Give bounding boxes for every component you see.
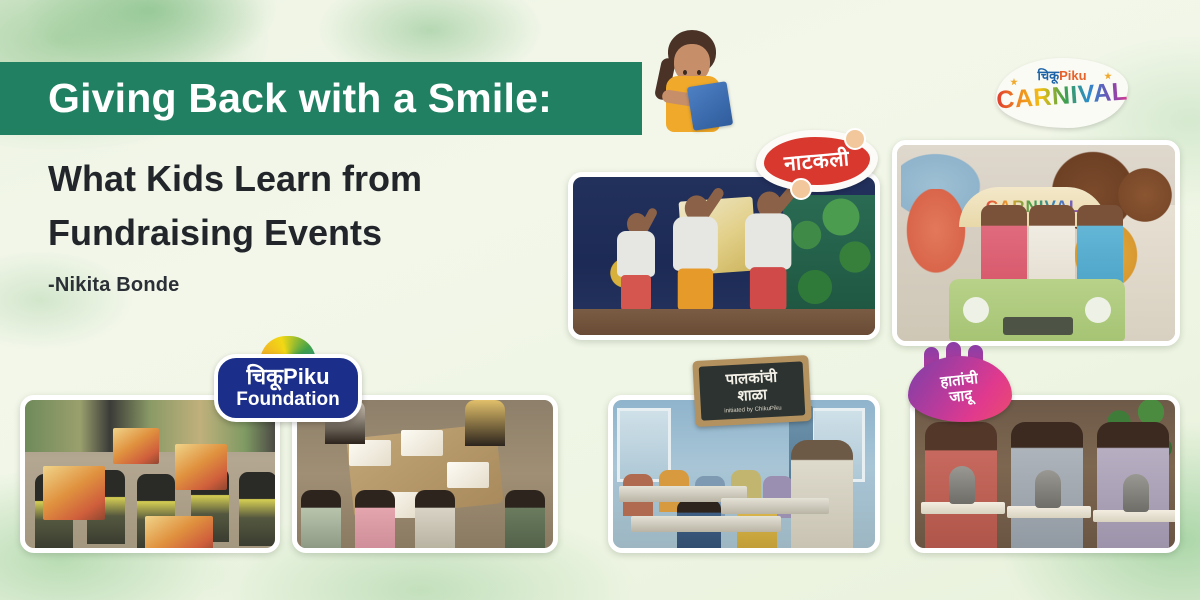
- shirt-shape: [673, 217, 718, 271]
- eye-right: [697, 70, 701, 75]
- shorts-shape: [621, 275, 651, 311]
- badge-foundation-line1: चिकूPiku: [246, 365, 329, 389]
- photo-carnival: CARNIVAL Three children posing in a gree…: [892, 140, 1180, 346]
- carnival-scene: CARNIVAL: [897, 145, 1175, 341]
- badge-carnival: चिकूPiku CARNIVAL: [996, 58, 1128, 128]
- shirt-shape: [617, 231, 655, 277]
- blackboard-frame: पालकांची शाळा initiated by ChikuPiku: [692, 355, 811, 427]
- photo-natakli: Three performers dancing on a jungle-the…: [568, 172, 880, 340]
- dragon-cutout: [901, 189, 971, 281]
- jungle-set-piece: [783, 195, 875, 311]
- desk-3: [721, 498, 829, 514]
- badge-fill: चिकूPiku Foundation: [214, 354, 362, 422]
- clay-idol-2: [1035, 470, 1061, 508]
- child-5: [239, 472, 277, 546]
- facilitator: [791, 440, 853, 548]
- storybook-3: [145, 516, 213, 553]
- badge-shala-line1: पालकांची: [725, 368, 777, 388]
- stage-backdrop: [573, 177, 875, 335]
- author-byline: -Nikita Bonde: [48, 274, 568, 297]
- badge-shala-credit: initiated by ChikuPiku: [724, 405, 782, 414]
- shirt-shape: [745, 213, 791, 269]
- stage-floor: [573, 309, 875, 335]
- jeep-prop: [949, 279, 1125, 341]
- picture-book-3: [447, 462, 489, 488]
- cartoon-face-icon-2: [790, 178, 812, 200]
- child-1: [981, 205, 1027, 283]
- shorts-shape: [678, 269, 713, 311]
- child-4: [505, 490, 545, 548]
- girl-reading-illustration: [650, 30, 738, 140]
- child-6: [465, 400, 505, 446]
- child-3: [1077, 205, 1123, 283]
- eye-left: [683, 70, 687, 75]
- reading-scene: [297, 400, 553, 548]
- storybook-4: [113, 428, 159, 464]
- desk-2: [631, 516, 781, 532]
- books-scene: [25, 400, 275, 548]
- child-2: [1029, 205, 1075, 283]
- child-1: [301, 490, 341, 548]
- clay-workshop-scene: [915, 400, 1175, 548]
- child-2: [355, 490, 395, 548]
- picture-book-2: [401, 430, 443, 456]
- headline-block: What Kids Learn from Fundraising Events …: [48, 152, 568, 297]
- clay-idol-3: [1123, 474, 1149, 512]
- badge-natakli: नाटकली: [756, 130, 878, 192]
- storybook-2: [175, 444, 227, 490]
- bear-cutout-2: [1115, 165, 1175, 225]
- jeep-grille: [1003, 317, 1073, 335]
- shorts-shape: [750, 267, 787, 311]
- child-3: [415, 490, 455, 548]
- poster-canvas: Giving Back with a Smile: What Kids Lear…: [0, 0, 1200, 600]
- storybook-1: [43, 466, 105, 520]
- book-icon: [687, 81, 733, 131]
- headline-line-2: Fundraising Events: [48, 206, 568, 260]
- clay-idol-1: [949, 466, 975, 504]
- badge-hatanchi: हातांची जादू: [908, 356, 1012, 422]
- title-banner: Giving Back with a Smile:: [0, 62, 642, 135]
- badge-foundation: चिकूPiku Foundation: [214, 344, 362, 422]
- banner-title-text: Giving Back with a Smile:: [0, 75, 552, 122]
- badge-shala: पालकांची शाळा initiated by ChikuPiku: [694, 358, 810, 424]
- cartoon-face-icon-1: [844, 128, 866, 150]
- blackboard-surface: पालकांची शाळा initiated by ChikuPiku: [699, 361, 806, 420]
- headline-line-1: What Kids Learn from: [48, 152, 568, 206]
- badge-foundation-line2: Foundation: [236, 389, 339, 411]
- badge-shala-line2: शाळा: [737, 386, 767, 405]
- badge-natakli-label: नाटकली: [783, 144, 851, 178]
- brand-chiku: चिकू: [1037, 68, 1059, 83]
